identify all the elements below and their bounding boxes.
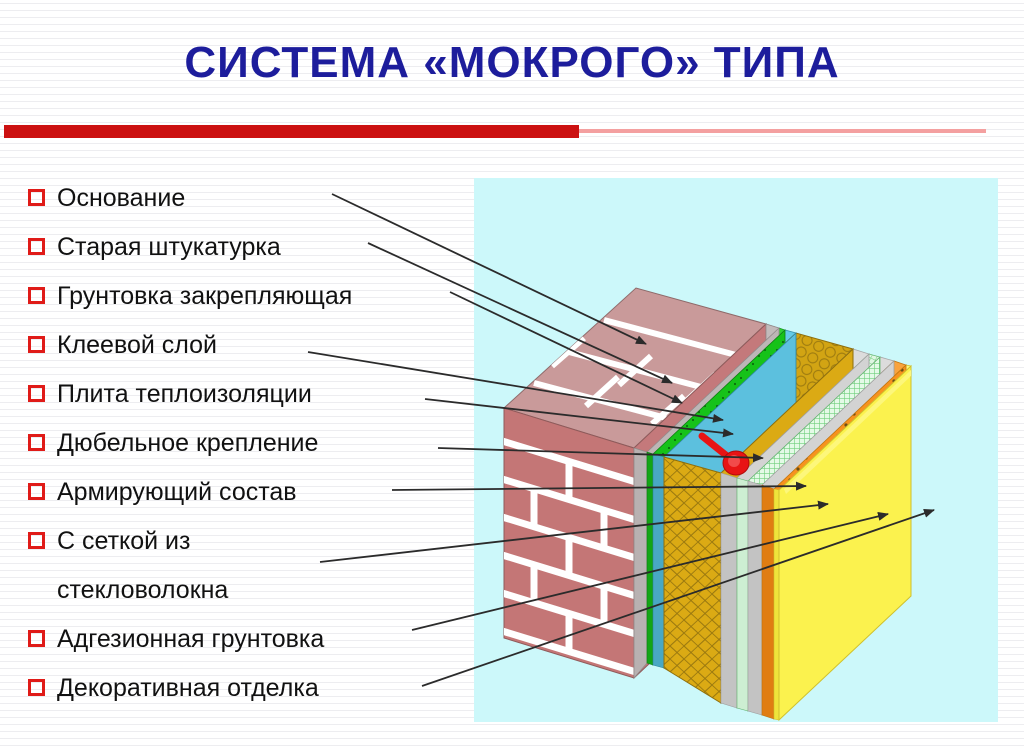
checkbox-bullet-icon (28, 189, 45, 206)
list-item-label: Дюбельное крепление (57, 425, 318, 461)
list-item[interactable]: Дюбельное крепление (28, 425, 458, 474)
layer-front-faces (499, 408, 639, 678)
list-item[interactable]: С сеткой из (28, 523, 458, 572)
list-item-label: Плита теплоизоляции (57, 376, 312, 412)
list-item[interactable]: Грунтовка закрепляющая (28, 278, 458, 327)
list-item-label: Старая штукатурка (57, 229, 281, 265)
wall-cross-section-diagram (474, 178, 998, 722)
list-item[interactable]: Старая штукатурка (28, 229, 458, 278)
list-item-label: Декоративная отделка (57, 670, 319, 706)
checkbox-bullet-icon (28, 630, 45, 647)
page-title: СИСТЕМА «МОКРОГО» ТИПА (0, 38, 1024, 88)
fixing-primer-edge (647, 452, 653, 665)
list-item[interactable]: Плита теплоизоляции (28, 376, 458, 425)
list-item-label: Основание (57, 180, 185, 216)
list-item[interactable]: Декоративная отделка (28, 670, 458, 719)
checkbox-bullet-icon (28, 434, 45, 451)
checkbox-bullet-icon (28, 385, 45, 402)
list-item-label: Грунтовка закрепляющая (57, 278, 352, 314)
title-rule-thin (579, 129, 986, 133)
checkbox-bullet-icon (28, 679, 45, 696)
checkbox-bullet-icon (28, 336, 45, 353)
list-item-continuation: стекловолокна (28, 572, 458, 621)
list-item-label: Адгезионная грунтовка (57, 621, 324, 657)
list-item-label: Клеевой слой (57, 327, 217, 363)
decorative-finish-edge (774, 489, 779, 720)
orange-coat-edge (762, 485, 774, 719)
adhesive-edge (653, 454, 664, 668)
layer-legend-list: Основание Старая штукатурка Грунтовка за… (28, 180, 458, 719)
reinforcing-edge (721, 473, 737, 708)
list-item-label: Армирующий состав (57, 474, 297, 510)
adhesion-primer-edge (748, 481, 762, 715)
mesh-edge (737, 478, 748, 711)
list-item-label: С сеткой из (57, 523, 190, 559)
checkbox-bullet-icon (28, 287, 45, 304)
list-item[interactable]: Армирующий состав (28, 474, 458, 523)
list-item[interactable]: Клеевой слой (28, 327, 458, 376)
list-item-label: стекловолокна (57, 572, 228, 608)
checkbox-bullet-icon (28, 483, 45, 500)
checkbox-bullet-icon (28, 238, 45, 255)
title-rule-thick (4, 125, 579, 138)
list-item[interactable]: Основание (28, 180, 458, 229)
insulation-side-edge (664, 457, 721, 703)
old-plaster-side-face (634, 448, 647, 678)
list-item[interactable]: Адгезионная грунтовка (28, 621, 458, 670)
slide-background: СИСТЕМА «МОКРОГО» ТИПА Основание Старая … (0, 0, 1024, 749)
checkbox-bullet-icon (28, 532, 45, 549)
